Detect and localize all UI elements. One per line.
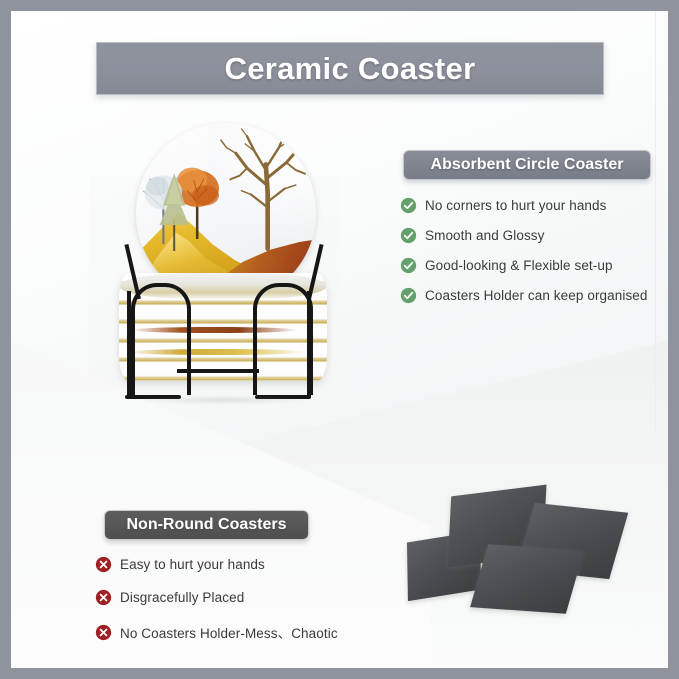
round-coaster-photo-shadow bbox=[137, 395, 307, 405]
list-item: No Coasters Holder-Mess、Chaotic bbox=[95, 622, 395, 642]
x-circle-icon bbox=[95, 556, 112, 573]
slate-coasters-photo bbox=[401, 479, 631, 619]
product-infographic-page: Ceramic Coaster bbox=[0, 0, 679, 679]
coaster-art-pine-tree-icon bbox=[158, 170, 190, 238]
list-item: Disgracefully Placed bbox=[95, 589, 395, 606]
pros-item-text: Coasters Holder can keep organised bbox=[425, 288, 648, 303]
pros-list: No corners to hurt your hands Smooth and… bbox=[400, 197, 668, 317]
page-title: Ceramic Coaster bbox=[225, 51, 476, 87]
cons-section-label: Non-Round Coasters bbox=[104, 510, 309, 540]
check-circle-icon bbox=[400, 227, 417, 244]
coaster-art-bare-tree-icon bbox=[219, 127, 313, 246]
pros-section-label: Absorbent Circle Coaster bbox=[403, 150, 651, 180]
holder-wire-brace bbox=[177, 369, 259, 373]
check-circle-icon bbox=[400, 287, 417, 304]
cons-list: Easy to hurt your hands Disgracefully Pl… bbox=[95, 556, 395, 658]
cons-item-text: No Coasters Holder-Mess、Chaotic bbox=[120, 622, 338, 642]
x-circle-icon bbox=[95, 589, 112, 606]
check-circle-icon bbox=[400, 257, 417, 274]
x-circle-icon bbox=[95, 624, 112, 641]
cons-section-label-text: Non-Round Coasters bbox=[127, 516, 287, 534]
list-item: Easy to hurt your hands bbox=[95, 556, 395, 573]
slate-coaster bbox=[470, 544, 584, 614]
check-circle-icon bbox=[400, 197, 417, 214]
holder-wire-arch-right bbox=[253, 283, 313, 395]
page-title-banner: Ceramic Coaster bbox=[96, 42, 604, 95]
pros-item-text: Smooth and Glossy bbox=[425, 228, 545, 243]
holder-wire-arch-left bbox=[131, 283, 191, 395]
pros-item-text: Good-looking & Flexible set-up bbox=[425, 258, 613, 273]
cons-item-text: Easy to hurt your hands bbox=[120, 557, 265, 572]
holder-wire-post-right bbox=[307, 291, 311, 397]
round-coaster-photo bbox=[107, 123, 339, 403]
pros-section-label-text: Absorbent Circle Coaster bbox=[431, 156, 624, 174]
cons-item-text: Disgracefully Placed bbox=[120, 590, 244, 605]
content-frame: Ceramic Coaster bbox=[11, 11, 668, 668]
pros-item-text: No corners to hurt your hands bbox=[425, 198, 607, 213]
list-item: Good-looking & Flexible set-up bbox=[400, 257, 668, 274]
holder-wire-post-left bbox=[127, 291, 131, 397]
list-item: Coasters Holder can keep organised bbox=[400, 287, 668, 304]
list-item: Smooth and Glossy bbox=[400, 227, 668, 244]
list-item: No corners to hurt your hands bbox=[400, 197, 668, 214]
